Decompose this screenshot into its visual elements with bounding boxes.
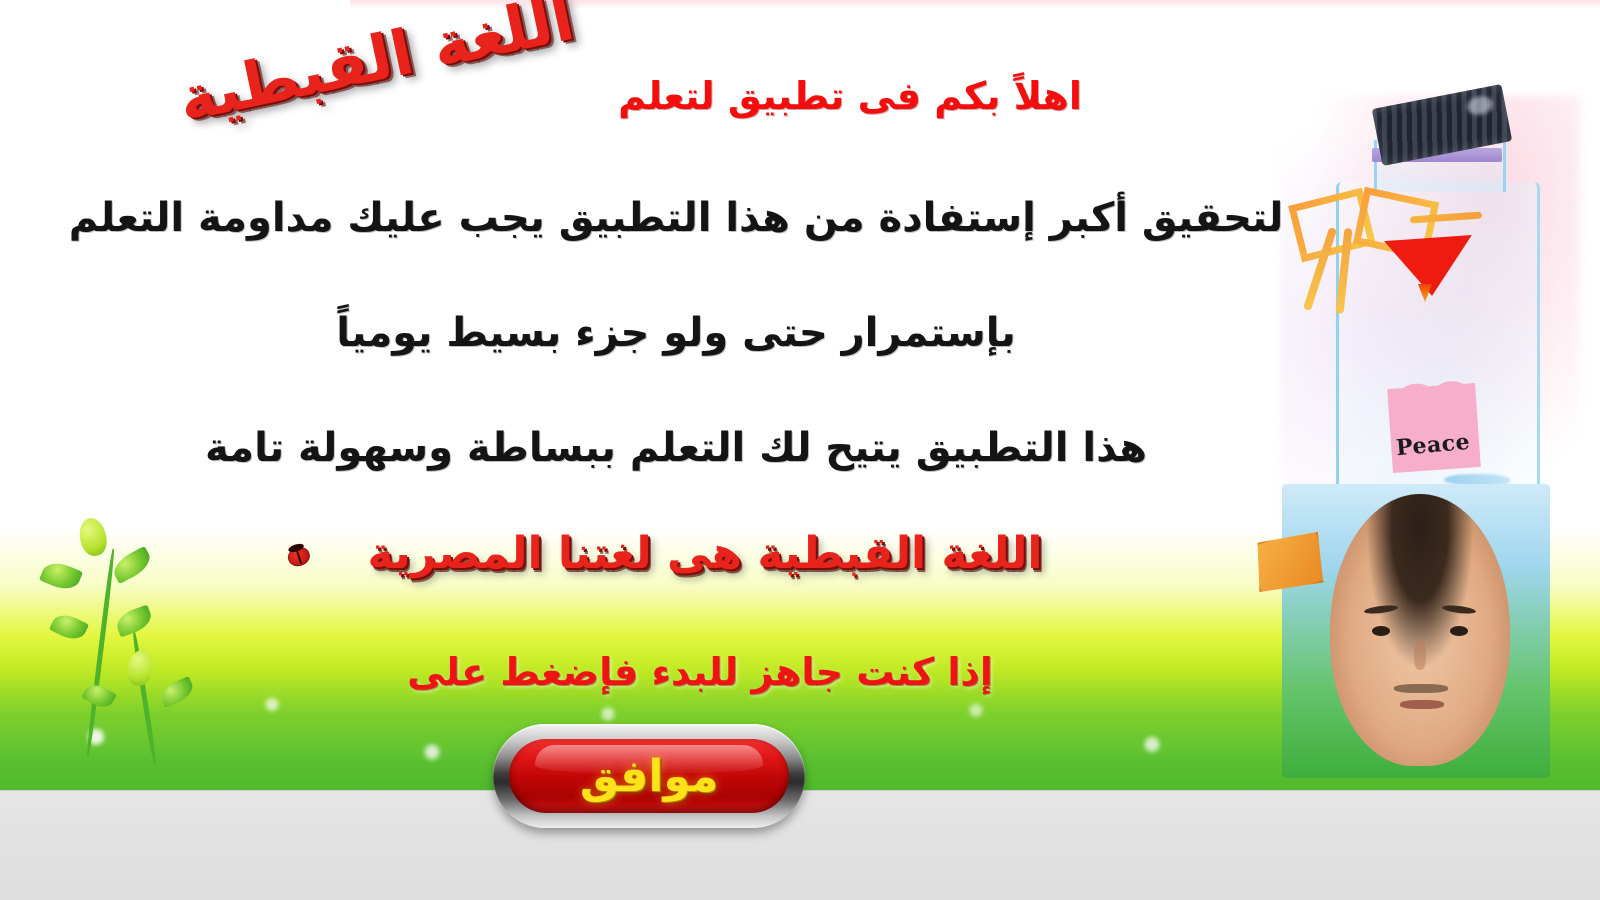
confirm-button[interactable]: موافق bbox=[493, 724, 805, 828]
confirm-button-face: موافق bbox=[509, 739, 789, 813]
body-line-2: بإستمرار حتى ولو جزء بسيط يومياً bbox=[6, 310, 1346, 356]
confirm-button-label: موافق bbox=[580, 751, 718, 802]
welcome-message: اهلاً بكم فى تطبيق لتعلم bbox=[560, 74, 1140, 118]
body-line-3: هذا التطبيق يتيح لك التعلم ببساطة وسهولة… bbox=[6, 425, 1346, 471]
highlight-message: اللغة القبطية هى لغتنا المصرية bbox=[150, 528, 1260, 579]
call-to-action: إذا كنت جاهز للبدء فإضغط على bbox=[300, 650, 1100, 694]
welcome-screen: Peace اللغة bbox=[0, 0, 1600, 900]
body-line-1: لتحقيق أكبر إستفادة من هذا التطبيق يجب ع… bbox=[6, 195, 1346, 241]
